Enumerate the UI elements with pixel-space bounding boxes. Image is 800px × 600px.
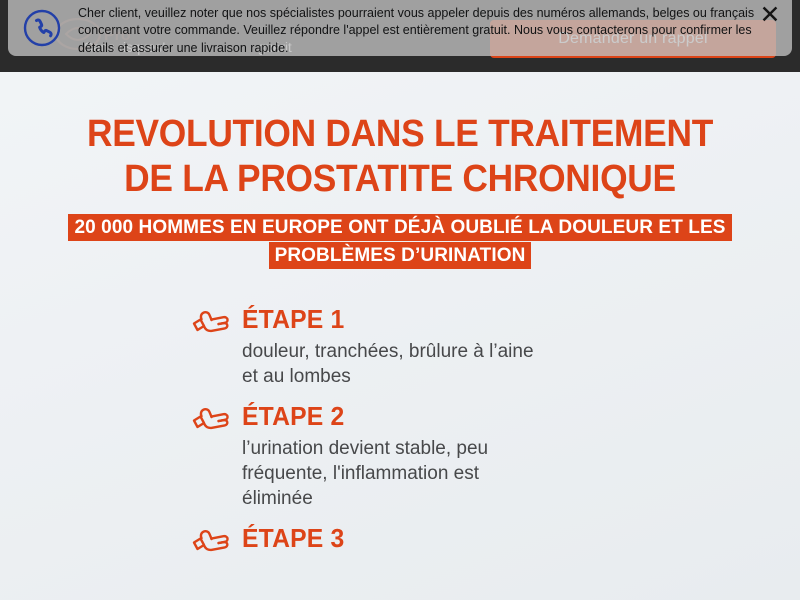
step-title: ÉTAPE 2: [242, 401, 344, 432]
step-header: ÉTAPE 1: [190, 304, 610, 335]
steps-list: ÉTAPE 1 douleur, tranchées, brûlure à l’…: [190, 304, 610, 566]
hero-subtitle: 20 000 HOMMES EN EUROPE ONT DÉJÀ OUBLIÉ …: [68, 214, 731, 269]
hero-section: REVOLUTION DANS LE TRAITEMENT DE LA PROS…: [0, 72, 800, 600]
phone-circle-icon: [20, 6, 64, 50]
list-item: ÉTAPE 3: [190, 523, 610, 554]
step-header: ÉTAPE 3: [190, 523, 610, 554]
page-root: REVOLUTION DANS LE TRAITEMENT DE LA PROS…: [0, 0, 800, 600]
page-title: REVOLUTION DANS LE TRAITEMENT DE LA PROS…: [84, 112, 716, 202]
step-title: ÉTAPE 3: [242, 523, 344, 554]
pointing-hand-icon: [190, 402, 234, 432]
pointing-hand-icon: [190, 524, 234, 554]
pointing-hand-icon: [190, 305, 234, 335]
step-description: l’urination devient stable, peu fréquent…: [242, 436, 552, 511]
step-description: douleur, tranchées, brûlure à l’aine et …: [242, 339, 552, 389]
step-header: ÉTAPE 2: [190, 401, 610, 432]
close-icon[interactable]: ✕: [756, 1, 784, 29]
list-item: ÉTAPE 2 l’urination devient stable, peu …: [190, 401, 610, 511]
notification-banner: Cher client, veuillez noter que nos spéc…: [8, 0, 792, 56]
step-title: ÉTAPE 1: [242, 304, 344, 335]
hero-subtitle-wrapper: 20 000 HOMMES EN EUROPE ONT DÉJÀ OUBLIÉ …: [40, 214, 760, 270]
notification-message: Cher client, veuillez noter que nos spéc…: [78, 5, 764, 57]
list-item: ÉTAPE 1 douleur, tranchées, brûlure à l’…: [190, 304, 610, 389]
